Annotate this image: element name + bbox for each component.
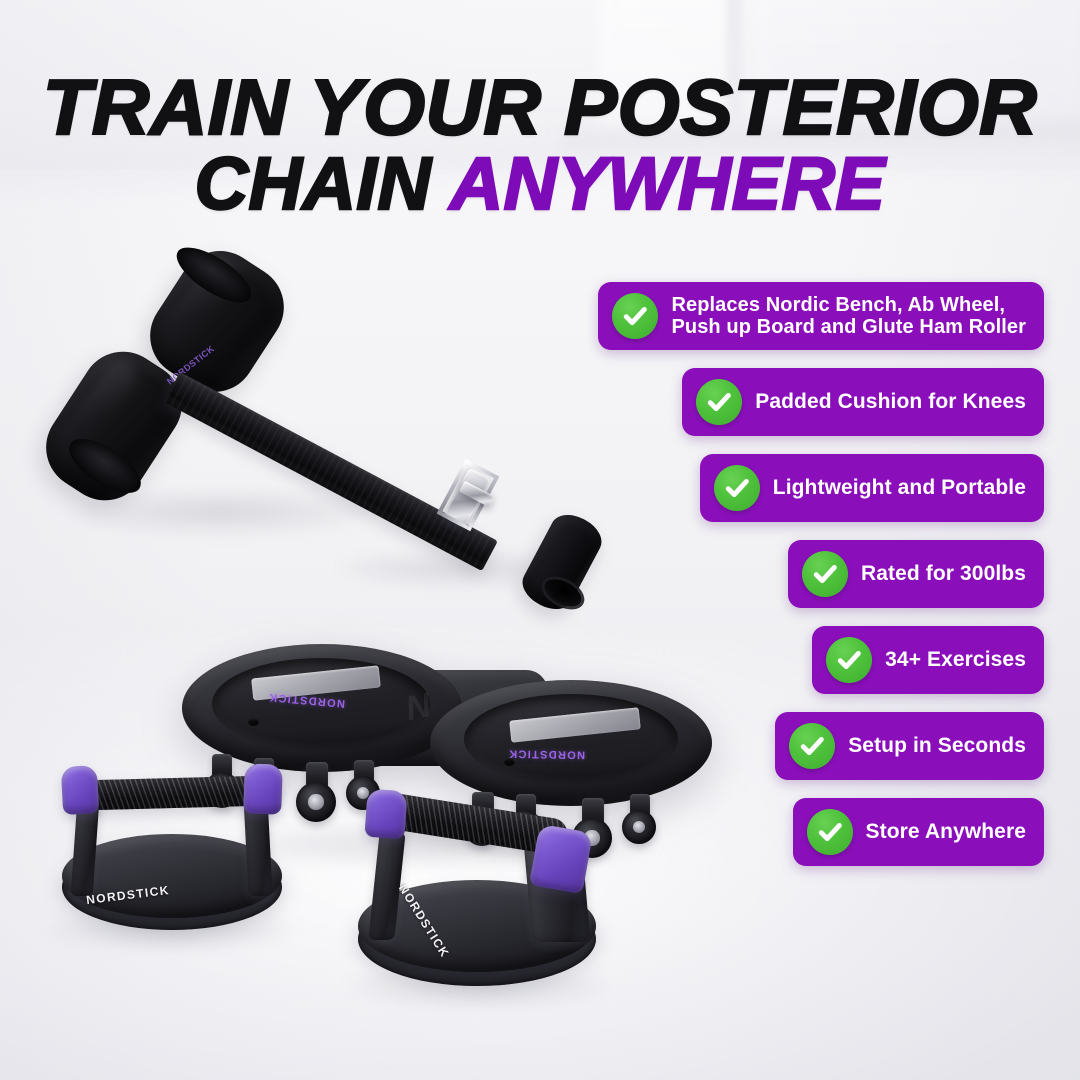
feature-badge-label: 34+ Exercises	[885, 648, 1026, 672]
headline-line-1: TRAIN YOUR POSTERIOR	[0, 72, 1080, 144]
pushup-grip-cap-left	[364, 789, 407, 840]
check-icon	[826, 637, 872, 683]
pushup-grip-cap-right	[243, 763, 283, 814]
headline-accent-word: ANYWHERE	[450, 142, 886, 225]
feature-badge[interactable]: Replaces Nordic Bench, Ab Wheel, Push up…	[598, 282, 1044, 350]
headline-line-2-dark: CHAIN	[195, 142, 450, 225]
feature-badge-label: Lightweight and Portable	[773, 476, 1026, 500]
feature-list: Replaces Nordic Bench, Ab Wheel, Push up…	[524, 282, 1044, 884]
feature-badge[interactable]: Padded Cushion for Knees	[682, 368, 1044, 436]
board-hole-right	[504, 758, 515, 766]
feature-badge-label: Rated for 300lbs	[861, 562, 1026, 586]
feature-badge-label: Store Anywhere	[866, 820, 1027, 844]
webbing-strap	[164, 372, 498, 571]
check-icon	[714, 465, 760, 511]
check-icon	[807, 809, 853, 855]
board-hole-left	[248, 718, 259, 726]
product-pushup-bar-left: NORDSTICK	[32, 756, 312, 956]
check-icon	[789, 723, 835, 769]
feature-badge[interactable]: Lightweight and Portable	[700, 454, 1044, 522]
feature-badge-label: Replaces Nordic Bench, Ab Wheel, Push up…	[671, 294, 1026, 339]
page-title: TRAIN YOUR POSTERIOR CHAIN ANYWHERE	[0, 72, 1080, 218]
headline-line-2: CHAIN ANYWHERE	[0, 150, 1080, 218]
feature-badge[interactable]: 34+ Exercises	[812, 626, 1044, 694]
feature-badge[interactable]: Rated for 300lbs	[788, 540, 1044, 608]
pushup-grip-cap-left	[61, 765, 99, 815]
check-icon	[696, 379, 742, 425]
feature-badge[interactable]: Setup in Seconds	[775, 712, 1044, 780]
check-icon	[612, 293, 658, 339]
feature-badge[interactable]: Store Anywhere	[793, 798, 1045, 866]
check-icon	[802, 551, 848, 597]
feature-badge-label: Padded Cushion for Knees	[755, 390, 1026, 414]
feature-badge-label: Setup in Seconds	[848, 734, 1026, 758]
